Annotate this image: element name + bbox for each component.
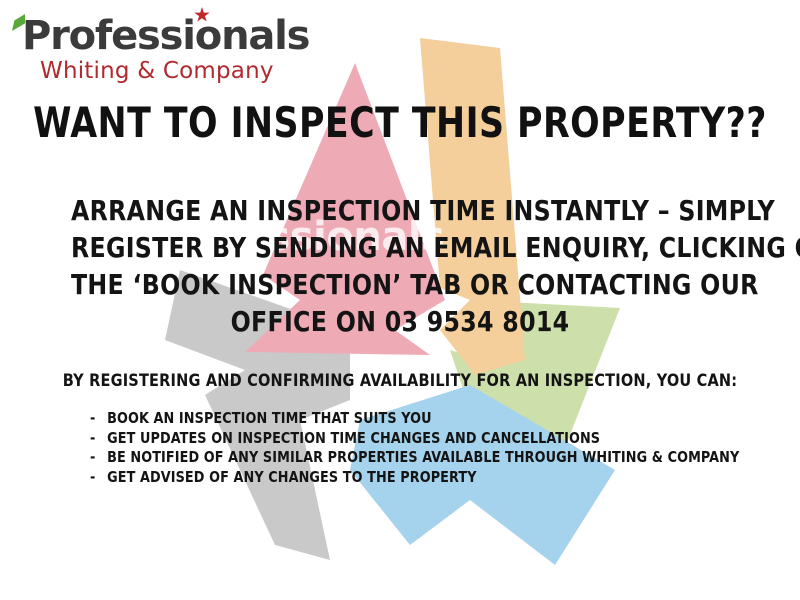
page-title: WANT TO INSPECT THIS PROPERTY?? <box>32 98 768 147</box>
list-item-label: GET ADVISED OF ANY CHANGES TO THE PROPER… <box>107 468 476 486</box>
logo-brand-row: Professionals <box>22 16 309 56</box>
bullet-marker: - <box>90 429 107 449</box>
list-item: -GET ADVISED OF ANY CHANGES TO THE PROPE… <box>90 468 736 488</box>
list-item: -BOOK AN INSPECTION TIME THAT SUITS YOU <box>90 409 736 429</box>
benefits-list: -BOOK AN INSPECTION TIME THAT SUITS YOU … <box>90 409 770 487</box>
list-item-label: BE NOTIFIED OF ANY SIMILAR PROPERTIES AV… <box>107 448 739 466</box>
bullet-marker: - <box>90 448 107 468</box>
logo-office-text: Whiting & Company <box>40 60 309 83</box>
list-item-label: BOOK AN INSPECTION TIME THAT SUITS YOU <box>107 409 431 427</box>
logo-brand-text: Professionals <box>22 13 309 59</box>
instructions-line: ARRANGE AN INSPECTION TIME INSTANTLY – S… <box>71 192 729 229</box>
list-item: -BE NOTIFIED OF ANY SIMILAR PROPERTIES A… <box>90 448 736 468</box>
instructions-line: THE ‘BOOK INSPECTION’ TAB OR CONTACTING … <box>71 266 729 303</box>
brand-logo: Professionals Whiting & Company <box>22 16 309 83</box>
list-item: -GET UPDATES ON INSPECTION TIME CHANGES … <box>90 429 736 449</box>
bullet-marker: - <box>90 468 107 488</box>
bullet-marker: - <box>90 409 107 429</box>
instructions-line: REGISTER BY SENDING AN EMAIL ENQUIRY, CL… <box>71 229 729 266</box>
list-item-label: GET UPDATES ON INSPECTION TIME CHANGES A… <box>107 429 600 447</box>
instructions-paragraph: ARRANGE AN INSPECTION TIME INSTANTLY – S… <box>50 192 750 340</box>
instructions-line: OFFICE ON 03 9534 8014 <box>71 303 729 340</box>
poster-canvas: Professionals Professionals Whiting & Co… <box>0 0 800 600</box>
benefits-subheading: BY REGISTERING AND CONFIRMING AVAILABILI… <box>20 371 780 391</box>
poster-content: WANT TO INSPECT THIS PROPERTY?? ARRANGE … <box>0 0 800 600</box>
